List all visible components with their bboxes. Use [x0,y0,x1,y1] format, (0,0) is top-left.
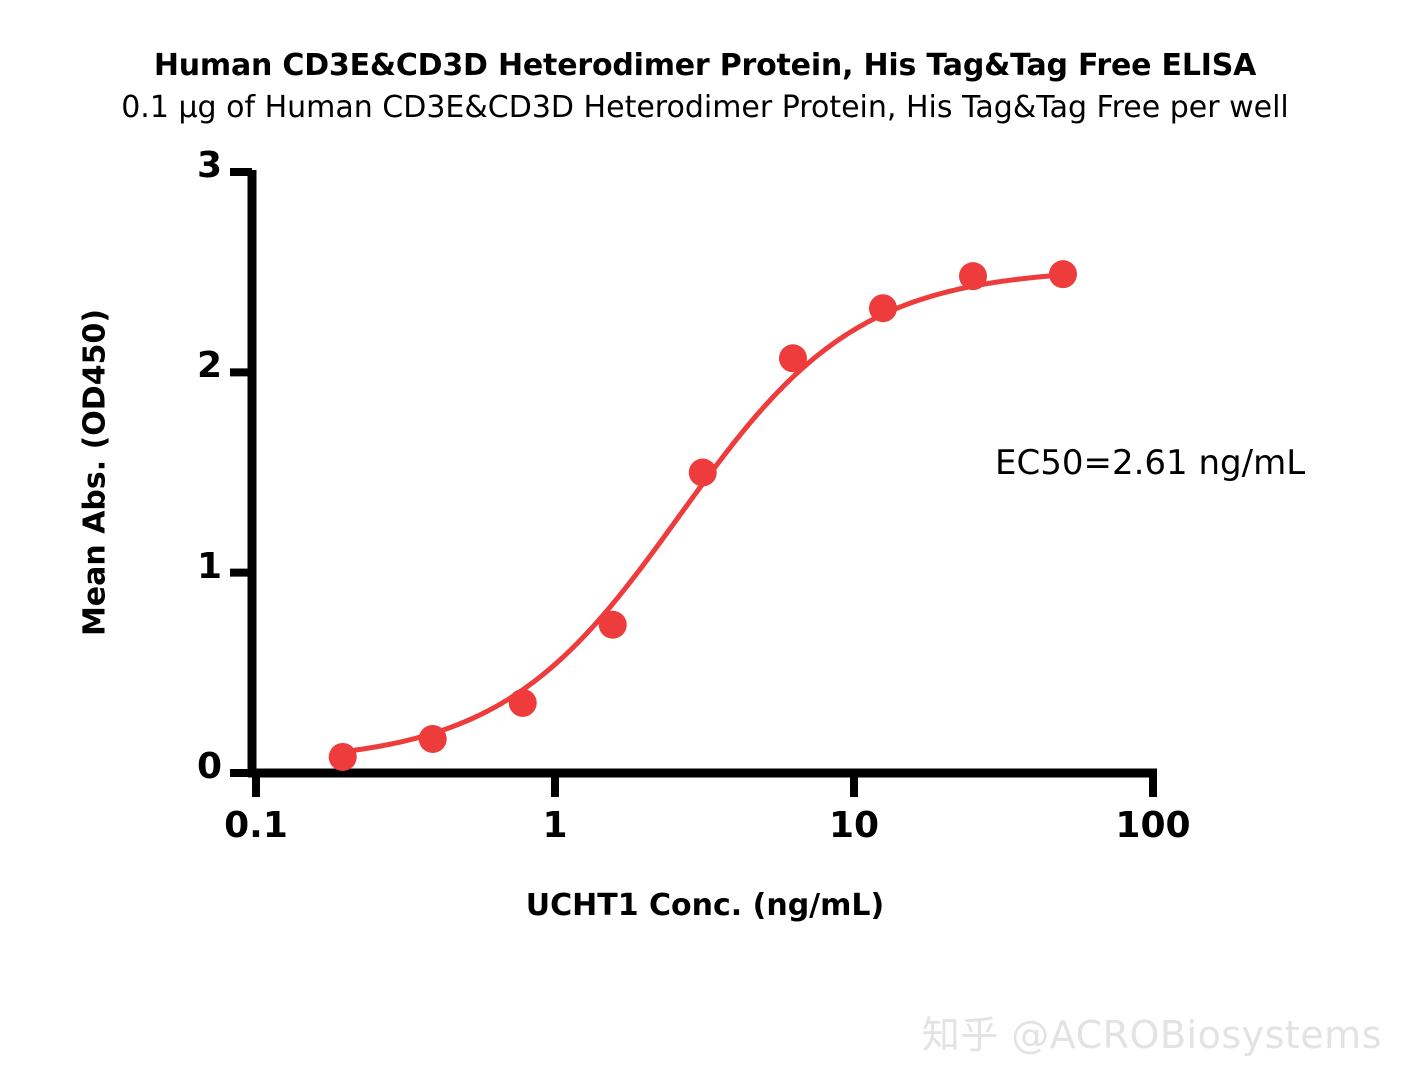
x-tick-label-0.1: 0.1 [186,805,326,846]
y-tick-label-3: 3 [162,145,222,186]
x-tick-label-10: 10 [784,805,924,846]
y-tick-label-1: 1 [162,546,222,587]
x-tick-label-100: 100 [1083,805,1223,846]
x-tick-label-1: 1 [485,805,625,846]
data-point-markers [329,260,1077,771]
data-point [599,611,627,639]
data-point [869,294,897,322]
ec50-annotation: EC50=2.61 ng/mL [995,443,1305,483]
data-point [779,344,807,372]
y-tick-label-2: 2 [162,345,222,386]
data-point [689,459,717,487]
x-axis-title: UCHT1 Conc. (ng/mL) [255,888,1155,923]
data-point [1049,260,1077,288]
y-tick-label-0: 0 [162,746,222,787]
data-point [959,262,987,290]
fit-curve [343,275,1063,752]
watermark: 知乎 @ACROBiosystems [922,1004,1382,1059]
y-axis-title: Mean Abs. (OD450) [78,283,113,663]
data-point [329,743,357,771]
data-point [509,689,537,717]
chart-plot-area: 0123 0.1110100 Mean Abs. (OD450) UCHT1 C… [0,0,1410,1083]
data-point [419,725,447,753]
